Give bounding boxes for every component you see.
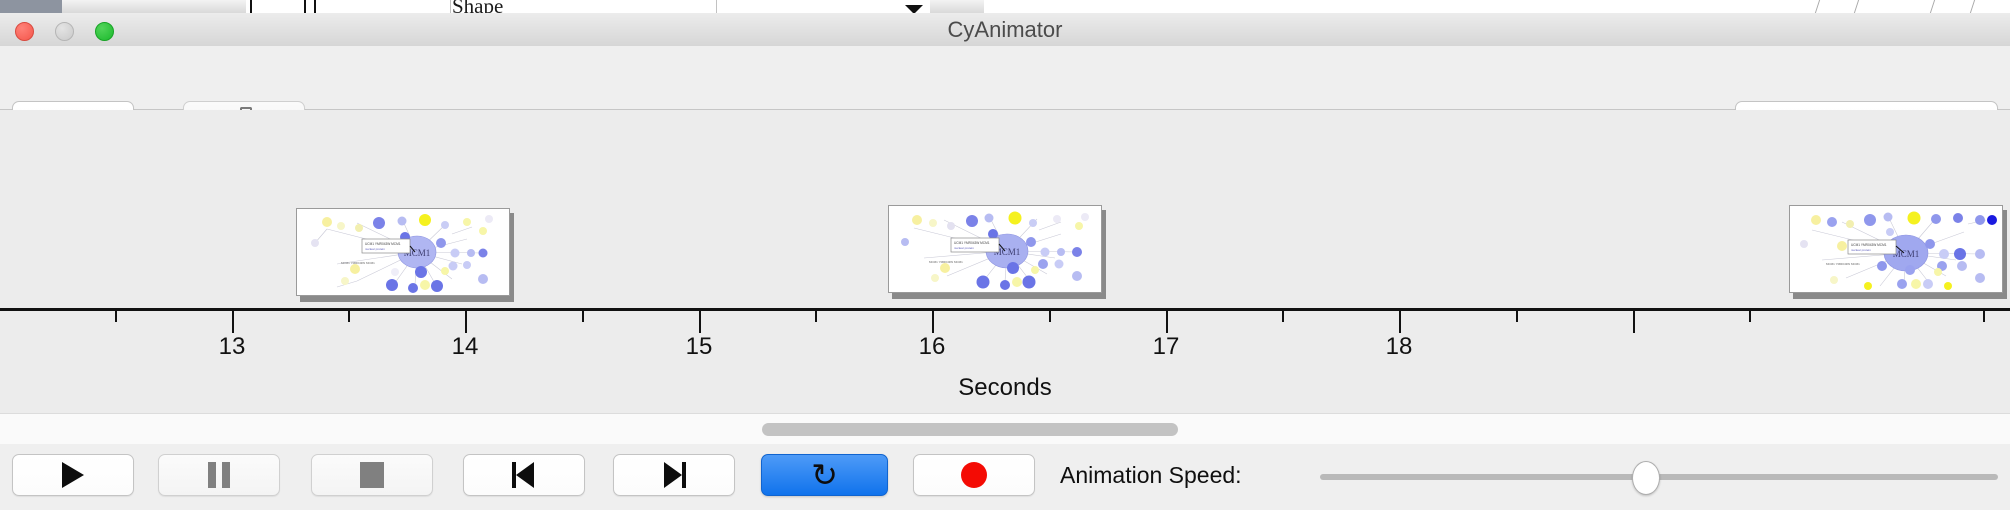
svg-text:UCM1 YMR043W MCM1: UCM1 YMR043W MCM1 bbox=[1851, 243, 1887, 247]
svg-text:MCM1 YMR043W MCM1: MCM1 YMR043W MCM1 bbox=[929, 260, 963, 264]
network-thumbnail-3: MCM1 bbox=[1790, 206, 2002, 292]
timeline-scrollbar[interactable] bbox=[0, 413, 2010, 445]
svg-text:nuclear protein: nuclear protein bbox=[954, 246, 974, 250]
timeline-track[interactable]: MCM1 bbox=[0, 110, 2010, 410]
record-button[interactable] bbox=[913, 454, 1035, 496]
frame-toolbar: + Clear All Frames bbox=[0, 46, 2010, 110]
timeline-frame-thumbnail[interactable]: MCM1 bbox=[888, 205, 1104, 295]
play-button[interactable] bbox=[12, 454, 134, 496]
svg-text:nuclear protein: nuclear protein bbox=[365, 247, 385, 251]
bg-titlebar-segment bbox=[0, 0, 62, 13]
axis-title-seconds: Seconds bbox=[0, 374, 2010, 402]
loop-button[interactable]: ↻ bbox=[761, 454, 888, 496]
skip-to-start-button[interactable] bbox=[463, 454, 585, 496]
network-thumbnail-1: MCM1 bbox=[297, 209, 509, 295]
ruler-tick-label: 15 bbox=[669, 333, 729, 361]
skip-to-end-button[interactable] bbox=[613, 454, 735, 496]
svg-text:MCM1 YMR043W MCM1: MCM1 YMR043W MCM1 bbox=[1826, 262, 1860, 266]
stop-button[interactable] bbox=[311, 454, 433, 496]
timeline-frame-thumbnail[interactable]: MCM1 bbox=[1789, 205, 2005, 295]
skip-next-icon bbox=[662, 462, 686, 488]
svg-text:MCM1 YMR043W MCM1: MCM1 YMR043W MCM1 bbox=[341, 261, 375, 265]
cyanimator-window: Shape CyAnimator + Clear All Frames bbox=[0, 0, 2010, 510]
play-icon bbox=[62, 462, 84, 488]
pause-icon bbox=[208, 462, 230, 488]
loop-icon: ↻ bbox=[811, 459, 838, 491]
playback-control-bar: ↻ Animation Speed: bbox=[0, 444, 2010, 510]
skip-previous-icon bbox=[512, 462, 536, 488]
background-window-strip: Shape bbox=[0, 0, 2010, 14]
ruler-tick-label: 16 bbox=[902, 333, 962, 361]
ruler-baseline bbox=[0, 308, 2010, 311]
bg-window-label: Shape bbox=[452, 0, 503, 14]
scrollbar-thumb[interactable] bbox=[762, 423, 1178, 436]
ruler-tick-label: 14 bbox=[435, 333, 495, 361]
svg-text:nuclear protein: nuclear protein bbox=[1851, 248, 1871, 252]
svg-text:UCM1 YMR043W MCM1: UCM1 YMR043W MCM1 bbox=[954, 241, 990, 245]
title-bar: CyAnimator bbox=[0, 13, 2010, 47]
timeline-ruler[interactable]: 12 13 14 15 16 17 18 Seconds bbox=[0, 308, 2010, 408]
ruler-tick-label: 12 bbox=[0, 333, 17, 361]
timeline-frame-thumbnail[interactable]: MCM1 bbox=[296, 208, 512, 298]
window-title: CyAnimator bbox=[0, 13, 2010, 46]
svg-text:UCM1 YMR043W MCM1: UCM1 YMR043W MCM1 bbox=[365, 242, 401, 246]
ruler-tick-label: 17 bbox=[1136, 333, 1196, 361]
network-thumbnail-2: MCM1 bbox=[889, 206, 1101, 292]
animation-speed-slider[interactable] bbox=[1320, 474, 1998, 480]
slider-thumb[interactable] bbox=[1632, 461, 1660, 495]
pause-button[interactable] bbox=[158, 454, 280, 496]
ruler-tick-label: 18 bbox=[1369, 333, 1429, 361]
animation-speed-label: Animation Speed: bbox=[1060, 454, 1242, 496]
stop-icon bbox=[360, 462, 384, 488]
svg-text:MCM1: MCM1 bbox=[1893, 249, 1920, 259]
timeline-panel[interactable]: MCM1 bbox=[0, 110, 2010, 410]
ruler-tick-label: 13 bbox=[202, 333, 262, 361]
record-icon bbox=[961, 462, 987, 488]
